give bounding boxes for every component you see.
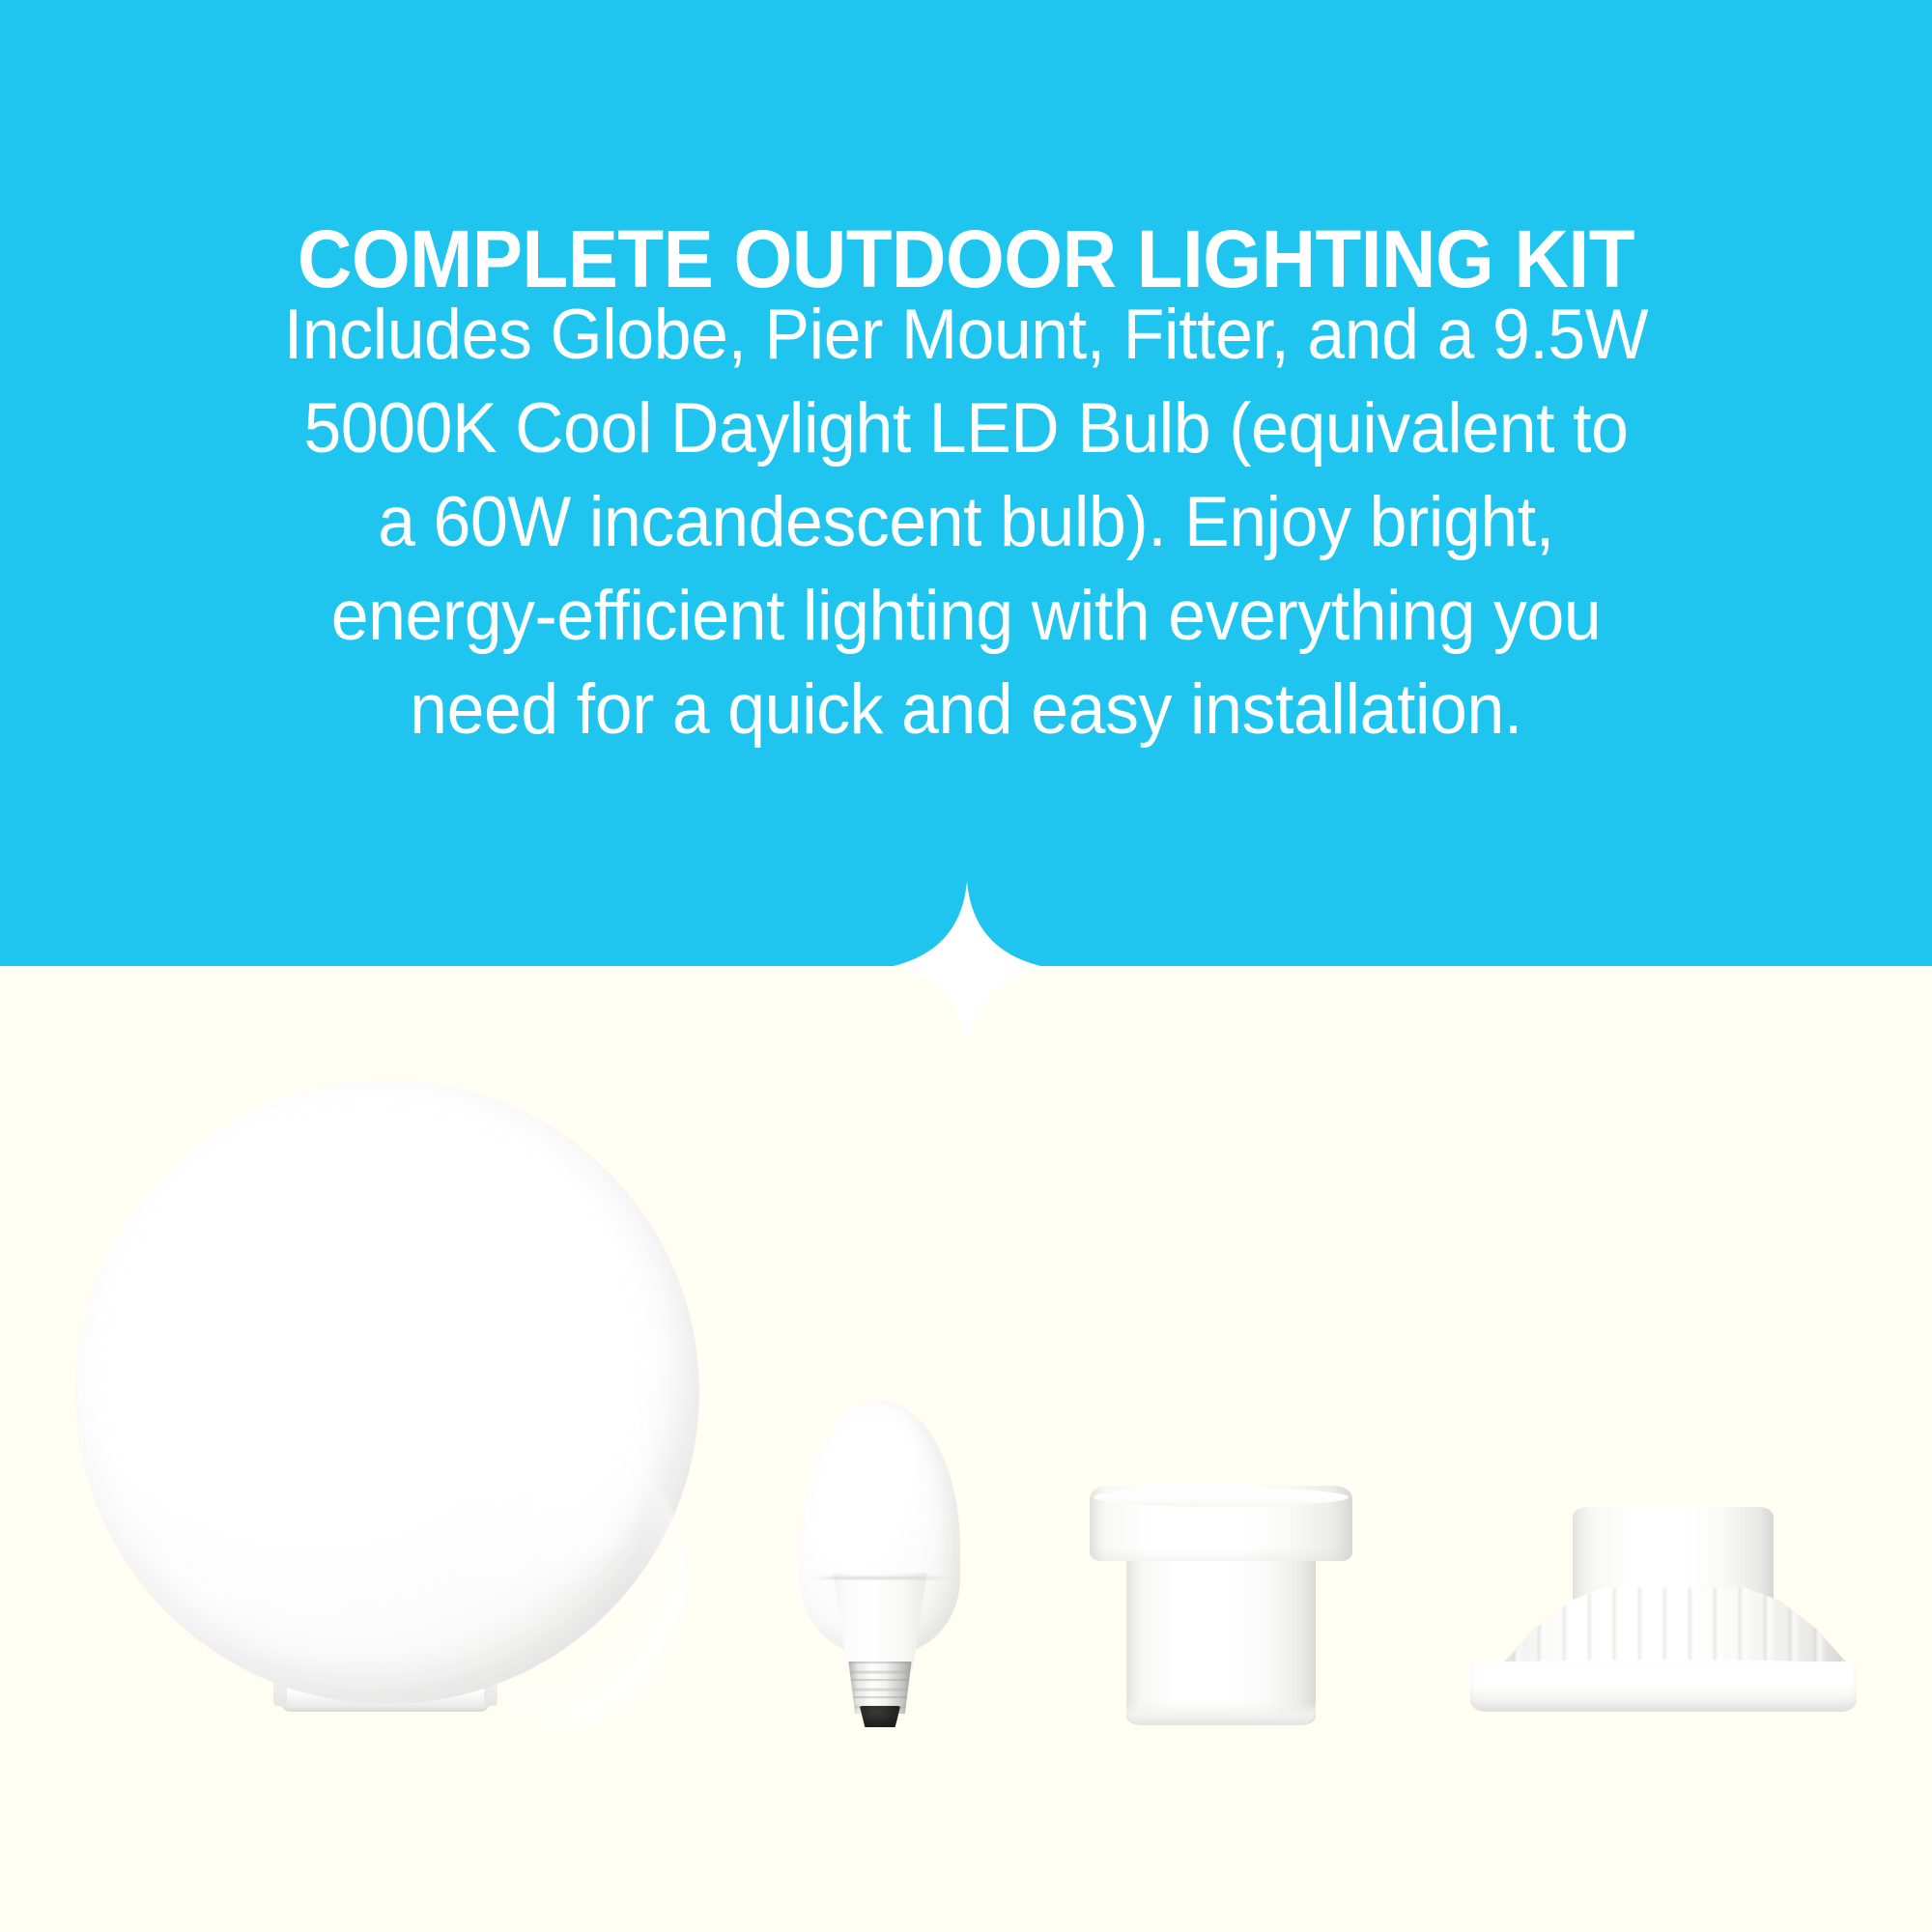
fitter-top-flange	[1090, 1486, 1352, 1561]
pier-mount-neck	[1573, 1507, 1774, 1600]
bulb-screw-base	[847, 1662, 913, 1714]
product-led-bulb	[800, 1401, 964, 1729]
product-fitter	[1090, 1486, 1370, 1735]
bulb-neck	[827, 1573, 933, 1677]
globe-highlight-streak	[481, 1345, 590, 1374]
bulb-contact-tip	[858, 1706, 902, 1727]
product-feature-graphic: COMPLETE OUTDOOR LIGHTING KIT Includes G…	[0, 0, 1932, 1932]
pier-mount-flutes	[1499, 1582, 1851, 1669]
hero-description: Includes Globe, Pier Mount, Fitter, and …	[163, 288, 1769, 756]
globe-sphere	[75, 1080, 699, 1704]
hero-description-line-1: Includes Globe, Pier Mount, Fitter, and …	[163, 288, 1769, 382]
hero-description-line-2: 5000K Cool Daylight LED Bulb (equivalent…	[163, 382, 1769, 475]
fitter-bottom-lip	[1126, 1702, 1316, 1725]
pier-mount-base-plate	[1470, 1662, 1857, 1712]
bulb-seam-line	[809, 1577, 952, 1579]
hero-panel: COMPLETE OUTDOOR LIGHTING KIT Includes G…	[0, 0, 1932, 966]
fitter-cylinder-body	[1126, 1544, 1316, 1725]
product-lineup	[0, 966, 1932, 1932]
hero-description-line-3: a 60W incandescent bulb). Enjoy bright,	[163, 475, 1769, 569]
hero-description-line-5: need for a quick and easy installation.	[163, 663, 1769, 756]
product-globe	[75, 1080, 699, 1718]
hero-description-line-4: energy-efficient lighting with everythin…	[163, 569, 1769, 663]
fitter-flange-highlight	[1094, 1488, 1349, 1507]
product-pier-mount	[1449, 1507, 1855, 1748]
